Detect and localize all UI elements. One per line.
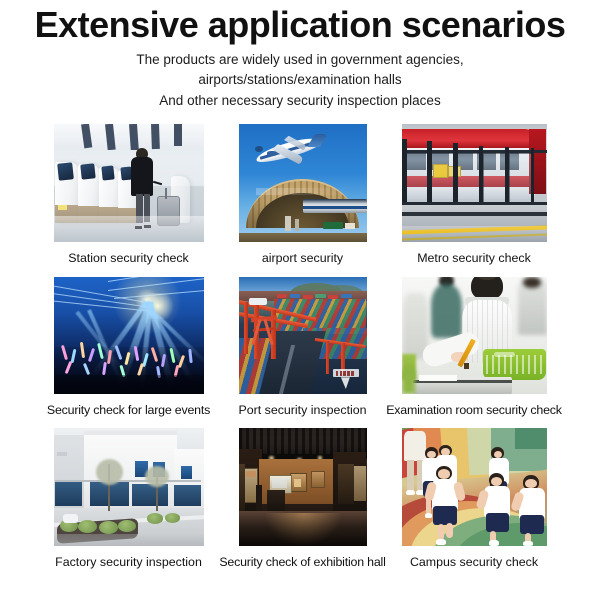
- page-title: Extensive application scenarios: [0, 6, 600, 44]
- industrial-building-exterior-image: [54, 428, 204, 546]
- gallery-item[interactable]: Station security check: [54, 124, 204, 276]
- container-port-cranes-image: [239, 277, 367, 394]
- gallery-item[interactable]: Examination room security check: [402, 277, 547, 428]
- student-writing-exam-image: [402, 277, 547, 394]
- scenario-gallery: Station security check: [0, 124, 600, 580]
- gallery-item[interactable]: Security check for large events: [54, 277, 204, 428]
- subtitle-line-1: The products are widely used in governme…: [0, 50, 600, 71]
- gallery-item-caption: Port security inspection: [238, 394, 366, 428]
- gallery-item-caption: Metro security check: [417, 242, 531, 276]
- subtitle-line-2: airports/stations/examination halls: [0, 70, 600, 91]
- gallery-item-caption: Security check for large events: [47, 394, 210, 428]
- page-header: Extensive application scenarios The prod…: [0, 0, 600, 111]
- subtitle-line-3: And other necessary security inspection …: [0, 91, 600, 112]
- gallery-item[interactable]: Metro security check: [402, 124, 547, 276]
- gallery-item[interactable]: Campus security check: [402, 428, 547, 580]
- gallery-item-caption: Security check of exhibition hall: [219, 546, 385, 580]
- gallery-item[interactable]: Factory security inspection: [54, 428, 204, 580]
- concert-crowd-lasers-image: [54, 277, 204, 394]
- museum-exhibition-interior-image: [239, 428, 367, 546]
- gallery-item-caption: airport security: [262, 242, 343, 276]
- airplane-over-terminal-image: [239, 124, 367, 242]
- gallery-item-caption: Factory security inspection: [55, 546, 202, 580]
- page-subtitle: The products are widely used in governme…: [0, 50, 600, 112]
- children-running-track-image: [402, 428, 547, 546]
- gallery-item[interactable]: Security check of exhibition hall: [239, 428, 367, 580]
- gallery-item-caption: Examination room security check: [386, 394, 562, 428]
- gallery-item-caption: Campus security check: [410, 546, 538, 580]
- gallery-item-caption: Station security check: [68, 242, 189, 276]
- gallery-item[interactable]: Port security inspection: [239, 277, 367, 428]
- gallery-item[interactable]: airport security: [239, 124, 367, 276]
- metro-train-platform-doors-image: [402, 124, 547, 242]
- station-checkin-kiosks-image: [54, 124, 204, 242]
